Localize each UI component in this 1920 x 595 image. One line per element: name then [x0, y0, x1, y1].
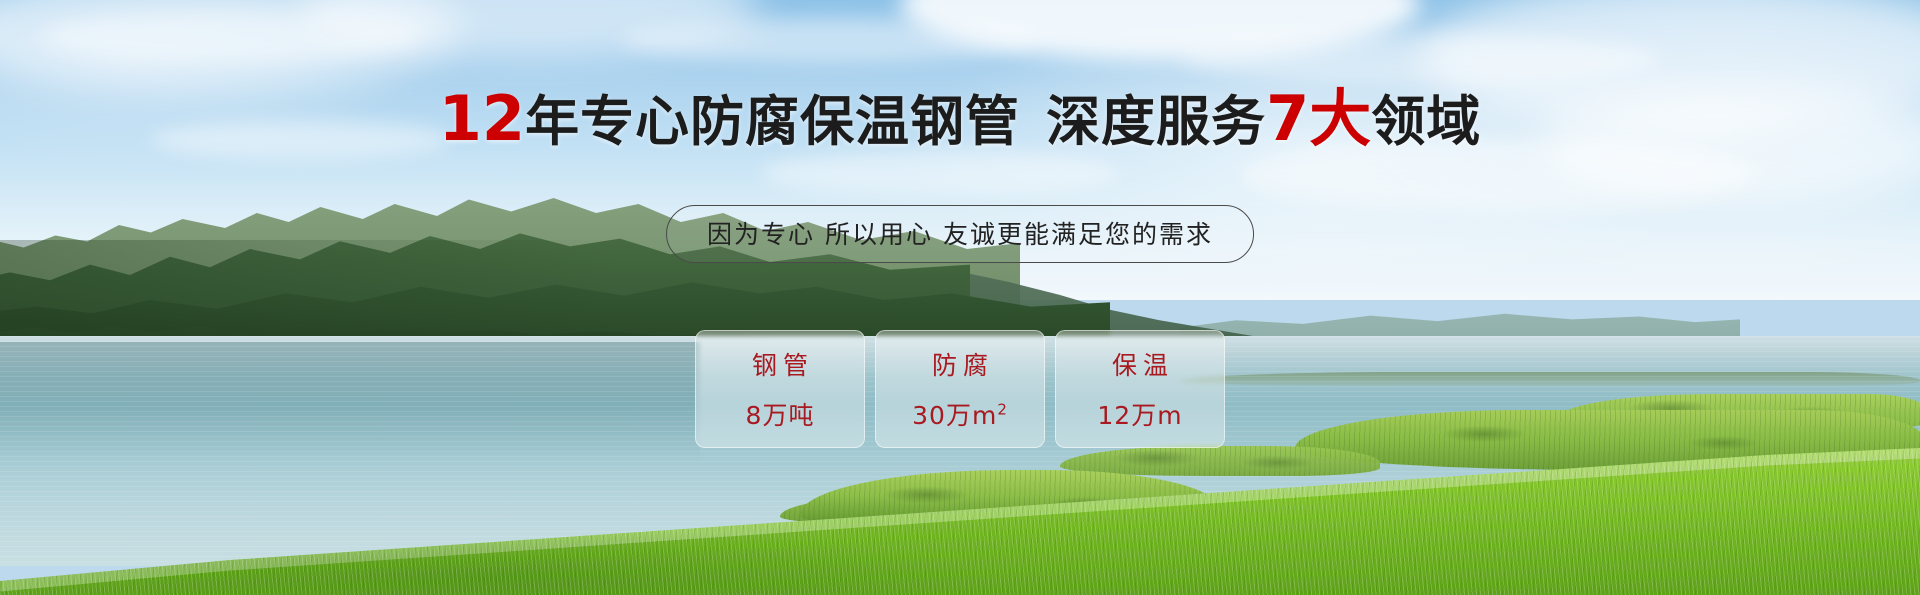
stat-value-text: 8万吨	[746, 401, 815, 430]
stat-card-anticorrosion: 防腐 30万m2	[875, 330, 1045, 448]
headline-service-text: 深度服务	[1046, 90, 1266, 153]
stat-value: 12万m	[1097, 396, 1182, 432]
stat-value-text: 30万m	[912, 401, 997, 430]
stat-label: 保温	[1106, 346, 1174, 382]
headline-seven-number: 7	[1266, 82, 1309, 155]
hero-banner: 12年专心防腐保温钢管年专心防腐保温钢管深度服务7大领域 因为专心 所以用心 友…	[0, 0, 1920, 595]
banner-headline: 12年专心防腐保温钢管年专心防腐保温钢管深度服务7大领域	[0, 88, 1920, 153]
stat-value-superscript: 2	[997, 401, 1008, 419]
banner-subtitle-pill: 因为专心 所以用心 友诚更能满足您的需求	[666, 205, 1254, 263]
banner-content: 12年专心防腐保温钢管年专心防腐保温钢管深度服务7大领域 因为专心 所以用心 友…	[0, 0, 1920, 595]
headline-seven-unit: 大	[1309, 82, 1371, 155]
stat-label: 防腐	[926, 346, 994, 382]
stat-value-text: 12万m	[1097, 401, 1182, 430]
headline-fields-text: 领域	[1371, 90, 1481, 153]
stat-card-steel-pipe: 钢管 8万吨	[695, 330, 865, 448]
headline-main-text: 年专心防腐保温钢管	[525, 90, 1020, 153]
stat-label: 钢管	[746, 346, 814, 382]
headline-years-number: 12	[439, 82, 525, 155]
stat-value: 8万吨	[746, 396, 815, 432]
stat-value: 30万m2	[912, 396, 1008, 432]
stat-card-insulation: 保温 12万m	[1055, 330, 1225, 448]
stats-card-group: 钢管 8万吨 防腐 30万m2 保温 12万m	[695, 330, 1225, 448]
